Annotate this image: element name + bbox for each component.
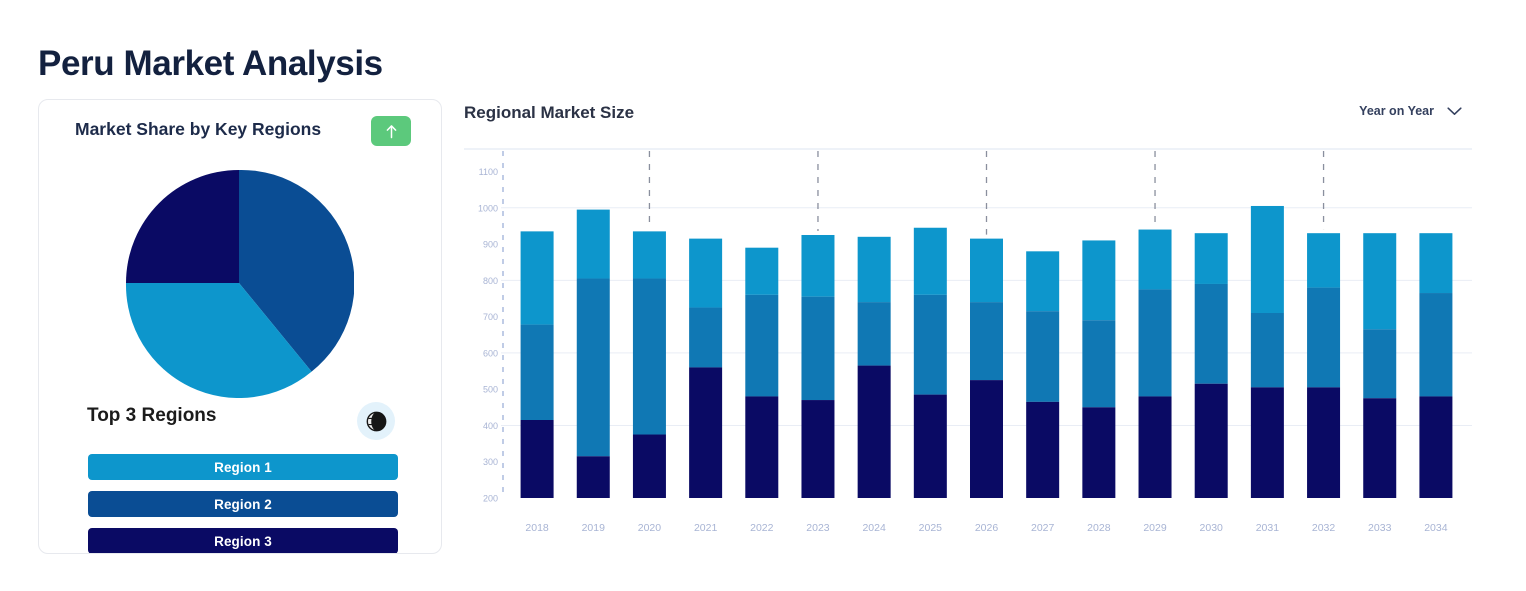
- bar-segment-region-2[interactable]: [1307, 288, 1340, 388]
- bar-segment-region-3[interactable]: [1195, 384, 1228, 498]
- bar-segment-region-2[interactable]: [745, 295, 778, 397]
- arrow-up-button[interactable]: [371, 116, 411, 146]
- bar-group[interactable]: [858, 237, 891, 498]
- x-tick-label: 2023: [806, 522, 830, 534]
- region-pill-label: Region 2: [214, 497, 272, 512]
- y-tick-label: 700: [483, 312, 498, 322]
- x-tick-label: 2018: [525, 522, 549, 534]
- panel-title: Regional Market Size: [464, 103, 634, 123]
- chart-y-axis: 20030040050060070080090010001100: [478, 151, 503, 504]
- bar-segment-region-3[interactable]: [858, 366, 891, 498]
- bar-segment-region-3[interactable]: [577, 456, 610, 498]
- bar-segment-region-1[interactable]: [914, 228, 947, 295]
- bar-segment-region-3[interactable]: [633, 435, 666, 498]
- region-pill-label: Region 3: [214, 534, 272, 549]
- bar-segment-region-2[interactable]: [858, 302, 891, 365]
- x-tick-label: 2027: [1031, 522, 1055, 534]
- bar-group[interactable]: [1419, 233, 1452, 498]
- bar-group[interactable]: [970, 239, 1003, 498]
- card-header: Market Share by Key Regions: [39, 100, 441, 162]
- bar-group[interactable]: [1363, 233, 1396, 498]
- bar-segment-region-3[interactable]: [1026, 402, 1059, 498]
- globe-icon: [366, 411, 387, 432]
- bar-segment-region-2[interactable]: [914, 295, 947, 395]
- bar-segment-region-2[interactable]: [1195, 284, 1228, 384]
- bar-segment-region-1[interactable]: [633, 231, 666, 278]
- x-tick-label: 2019: [582, 522, 606, 534]
- x-tick-label: 2020: [638, 522, 662, 534]
- bar-segment-region-1[interactable]: [521, 231, 554, 324]
- bar-segment-region-1[interactable]: [689, 239, 722, 308]
- bar-group[interactable]: [914, 228, 947, 498]
- y-tick-label: 600: [483, 348, 498, 358]
- x-tick-label: 2028: [1087, 522, 1111, 534]
- bar-segment-region-3[interactable]: [1363, 398, 1396, 498]
- x-tick-label: 2030: [1200, 522, 1224, 534]
- region-pill-3[interactable]: Region 3: [88, 528, 398, 554]
- chart-x-axis: 2018201920202021202220232024202520262027…: [525, 522, 1447, 534]
- x-tick-label: 2025: [919, 522, 943, 534]
- bar-segment-region-1[interactable]: [745, 248, 778, 295]
- bar-group[interactable]: [521, 231, 554, 498]
- bar-segment-region-3[interactable]: [521, 420, 554, 498]
- bar-segment-region-1[interactable]: [1419, 233, 1452, 293]
- bar-segment-region-2[interactable]: [1419, 293, 1452, 396]
- bar-group[interactable]: [633, 231, 666, 498]
- x-tick-label: 2024: [862, 522, 886, 534]
- stacked-bar-chart: 20030040050060070080090010001100 2018201…: [464, 147, 1486, 552]
- bar-segment-region-2[interactable]: [1082, 320, 1115, 407]
- bar-segment-region-1[interactable]: [801, 235, 834, 297]
- chart-svg: 20030040050060070080090010001100 2018201…: [464, 147, 1486, 552]
- bar-segment-region-2[interactable]: [1251, 313, 1284, 387]
- chevron-down-icon: [1447, 107, 1462, 116]
- bar-segment-region-3[interactable]: [1251, 387, 1284, 498]
- bar-segment-region-2[interactable]: [689, 308, 722, 368]
- pie-svg: [124, 168, 354, 398]
- year-on-year-dropdown[interactable]: Year on Year: [1359, 104, 1462, 118]
- bar-segment-region-1[interactable]: [1307, 233, 1340, 287]
- bar-group[interactable]: [1139, 230, 1172, 498]
- bar-segment-region-1[interactable]: [1251, 206, 1284, 313]
- x-tick-label: 2031: [1256, 522, 1280, 534]
- year-on-year-label: Year on Year: [1359, 104, 1434, 118]
- y-tick-label: 1000: [478, 203, 498, 213]
- y-tick-label: 300: [483, 457, 498, 467]
- bar-group[interactable]: [689, 239, 722, 498]
- pie-slice-region-3[interactable]: [126, 170, 239, 283]
- bar-group[interactable]: [801, 235, 834, 498]
- bar-group[interactable]: [745, 248, 778, 498]
- bar-segment-region-3[interactable]: [1307, 387, 1340, 498]
- page-title: Peru Market Analysis: [38, 42, 383, 86]
- card-title: Market Share by Key Regions: [75, 119, 321, 140]
- bar-segment-region-2[interactable]: [577, 279, 610, 457]
- market-share-pie-chart: [124, 168, 354, 398]
- bar-segment-region-2[interactable]: [801, 297, 834, 400]
- bar-segment-region-2[interactable]: [521, 325, 554, 420]
- x-tick-label: 2032: [1312, 522, 1336, 534]
- globe-button[interactable]: [357, 402, 395, 440]
- chart-bars: [521, 206, 1453, 498]
- arrow-up-icon: [385, 124, 398, 139]
- legend-heading: Top 3 Regions: [87, 405, 216, 427]
- bar-segment-region-2[interactable]: [1026, 311, 1059, 402]
- bar-segment-region-3[interactable]: [745, 396, 778, 498]
- x-tick-label: 2033: [1368, 522, 1392, 534]
- region-pill-2[interactable]: Region 2: [88, 491, 398, 517]
- bar-group[interactable]: [1251, 206, 1284, 498]
- bar-segment-region-3[interactable]: [1082, 407, 1115, 498]
- region-pill-label: Region 1: [214, 460, 272, 475]
- bar-segment-region-2[interactable]: [1363, 329, 1396, 398]
- bar-group[interactable]: [1307, 233, 1340, 498]
- x-tick-label: 2029: [1143, 522, 1167, 534]
- bar-segment-region-3[interactable]: [970, 380, 1003, 498]
- bar-segment-region-3[interactable]: [801, 400, 834, 498]
- x-tick-label: 2034: [1424, 522, 1448, 534]
- bar-segment-region-1[interactable]: [1195, 233, 1228, 284]
- x-tick-label: 2026: [975, 522, 999, 534]
- bar-segment-region-1[interactable]: [1026, 251, 1059, 311]
- bar-segment-region-3[interactable]: [1139, 396, 1172, 498]
- bar-segment-region-2[interactable]: [970, 302, 1003, 380]
- bar-group[interactable]: [577, 210, 610, 498]
- bar-segment-region-3[interactable]: [914, 395, 947, 498]
- bar-segment-region-1[interactable]: [858, 237, 891, 302]
- y-tick-label: 400: [483, 421, 498, 431]
- regional-market-size-panel: Regional Market Size Year on Year 200300…: [464, 95, 1486, 555]
- bar-group[interactable]: [1195, 233, 1228, 498]
- bar-segment-region-3[interactable]: [1419, 396, 1452, 498]
- bar-segment-region-3[interactable]: [689, 367, 722, 498]
- bar-segment-region-1[interactable]: [1082, 240, 1115, 320]
- y-tick-label: 500: [483, 385, 498, 395]
- y-tick-label: 1100: [479, 167, 498, 177]
- bar-group[interactable]: [1026, 251, 1059, 498]
- region-pill-1[interactable]: Region 1: [88, 454, 398, 480]
- dashboard-page: Peru Market Analysis Market Share by Key…: [0, 0, 1526, 591]
- bar-segment-region-2[interactable]: [1139, 289, 1172, 396]
- bar-segment-region-1[interactable]: [970, 239, 1003, 302]
- bar-segment-region-2[interactable]: [633, 279, 666, 435]
- bar-segment-region-1[interactable]: [1363, 233, 1396, 329]
- x-tick-label: 2021: [694, 522, 718, 534]
- x-tick-label: 2022: [750, 522, 774, 534]
- bar-segment-region-1[interactable]: [1139, 230, 1172, 290]
- bar-group[interactable]: [1082, 240, 1115, 498]
- market-share-card: Market Share by Key Regions Top 3 Region…: [38, 99, 442, 554]
- y-tick-label: 200: [483, 494, 498, 504]
- y-tick-label: 900: [483, 240, 498, 250]
- y-tick-label: 800: [483, 276, 498, 286]
- bar-segment-region-1[interactable]: [577, 210, 610, 279]
